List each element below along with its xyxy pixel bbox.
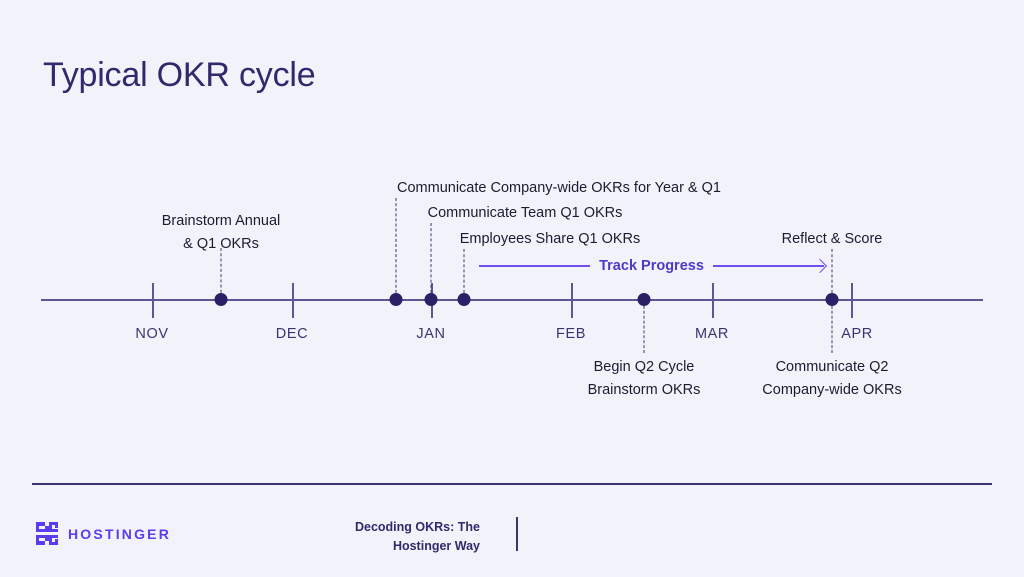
brand-name: HOSTINGER — [68, 526, 171, 542]
month-label-dec: DEC — [276, 326, 308, 342]
connector-communicate-q2-company-wide — [832, 301, 833, 353]
event-dot-employees-share-q1[interactable] — [458, 293, 471, 306]
event-dot-communicate-company-wide-year-q1[interactable] — [390, 293, 403, 306]
event-label-communicate-team-q1: Communicate Team Q1 OKRs — [428, 202, 623, 225]
footer-divider-rule — [32, 483, 992, 485]
event-label-employees-share-q1: Employees Share Q1 OKRs — [460, 228, 641, 251]
event-dot-reflect-and-score[interactable] — [826, 293, 839, 306]
event-dot-begin-q2-cycle[interactable] — [638, 293, 651, 306]
month-tick-dec — [292, 283, 294, 318]
footer-caption: Decoding OKRs: The Hostinger Way — [300, 518, 480, 556]
month-tick-nov — [152, 283, 154, 318]
connector-communicate-team-q1 — [431, 223, 432, 298]
timeline-axis — [41, 299, 983, 301]
footer-vertical-divider — [516, 517, 518, 551]
hostinger-h-logo-icon — [36, 522, 58, 545]
connector-begin-q2-cycle — [644, 301, 645, 353]
month-label-mar: MAR — [695, 326, 729, 342]
slide-canvas: Typical OKR cycle NOV DEC JAN FEB MAR AP… — [0, 0, 1024, 577]
connector-communicate-company-wide-year-q1 — [396, 198, 397, 298]
month-label-nov: NOV — [135, 326, 168, 342]
month-label-apr: APR — [841, 326, 873, 342]
event-dot-brainstorm-annual-q1[interactable] — [215, 293, 228, 306]
event-dot-communicate-team-q1[interactable] — [425, 293, 438, 306]
connector-employees-share-q1 — [464, 249, 465, 298]
track-progress-band: Track Progress — [479, 255, 824, 277]
month-label-feb: FEB — [556, 326, 586, 342]
track-progress-arrow-icon — [713, 265, 824, 267]
event-label-communicate-q2-company-wide: Communicate Q2 Company-wide OKRs — [762, 356, 901, 403]
brand-lockup: HOSTINGER — [36, 522, 171, 545]
track-progress-label: Track Progress — [599, 258, 704, 274]
event-label-communicate-company-wide-year-q1: Communicate Company-wide OKRs for Year &… — [397, 177, 721, 200]
month-tick-mar — [712, 283, 714, 318]
track-progress-rule-left — [479, 265, 590, 267]
month-label-jan: JAN — [416, 326, 445, 342]
event-label-reflect-and-score: Reflect & Score — [782, 228, 883, 251]
event-label-brainstorm-annual-q1: Brainstorm Annual & Q1 OKRs — [162, 210, 280, 257]
month-tick-feb — [571, 283, 573, 318]
month-tick-apr — [851, 283, 853, 318]
event-label-begin-q2-cycle: Begin Q2 Cycle Brainstorm OKRs — [588, 356, 701, 403]
connector-reflect-and-score — [832, 249, 833, 298]
page-title: Typical OKR cycle — [43, 56, 315, 95]
